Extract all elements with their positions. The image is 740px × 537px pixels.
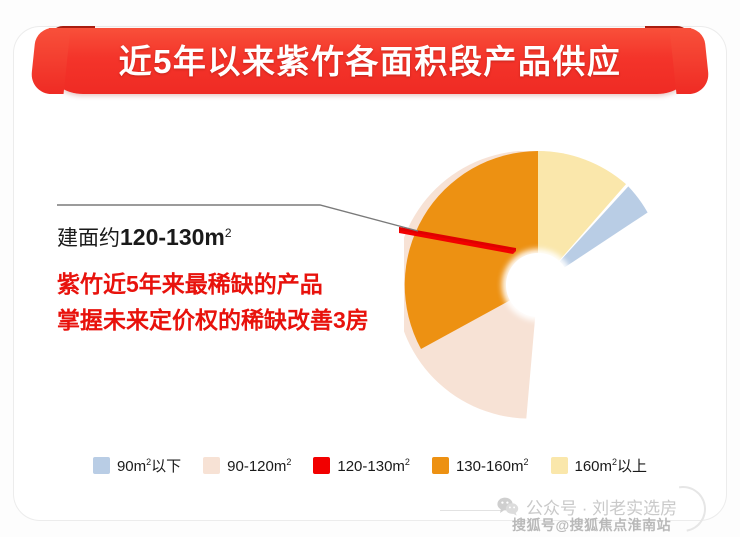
legend-label-130-160: 130-160m2 bbox=[456, 457, 529, 475]
annotation-red-line-1: 紫竹近5年来最稀缺的产品 bbox=[57, 267, 437, 303]
legend-label-90-120: 90-120m2 bbox=[227, 457, 291, 475]
annotation-unit-sup: 2 bbox=[225, 226, 232, 240]
legend-sup-2: 2 bbox=[405, 457, 410, 467]
legend-item-90-120[interactable]: 90-120m2 bbox=[203, 457, 291, 475]
annotation-prefix: 建面约 bbox=[57, 227, 120, 250]
chart-legend: 90m2以下 90-120m2 120-130m2 130-160m2 160m… bbox=[0, 455, 740, 476]
annotation-area-label: 建面约120-130m2 bbox=[57, 222, 437, 253]
legend-text-4: 160m bbox=[575, 458, 613, 475]
annotation-value: 120-130 bbox=[120, 224, 204, 250]
annotation-unit: m bbox=[204, 224, 224, 250]
legend-suffix-4: 以上 bbox=[617, 458, 647, 475]
legend-text-3: 130-160m bbox=[456, 458, 524, 475]
legend-text-2: 120-130m bbox=[337, 458, 405, 475]
legend-text-1: 90-120m bbox=[227, 458, 286, 475]
watermark-divider bbox=[440, 510, 502, 511]
legend-sup-1: 2 bbox=[286, 457, 291, 467]
legend-item-130-160[interactable]: 130-160m2 bbox=[432, 457, 529, 475]
annotation-highlight: 紫竹近5年来最稀缺的产品 掌握未来定价权的稀缺改善3房 bbox=[57, 267, 437, 338]
legend-item-90-down[interactable]: 90m2以下 bbox=[93, 455, 181, 476]
slide-canvas: 近5年以来紫竹各面积段产品供应 建面约120-130m2 紫竹近5年来最稀缺的产… bbox=[0, 0, 740, 537]
legend-label-90-down: 90m2以下 bbox=[117, 455, 181, 476]
legend-item-120-130[interactable]: 120-130m2 bbox=[313, 457, 410, 475]
legend-text-0: 90m bbox=[117, 458, 146, 475]
watermark-sohu: 搜狐号@搜狐焦点淮南站 bbox=[512, 515, 671, 535]
legend-suffix-0: 以下 bbox=[151, 458, 181, 475]
annotation-block: 建面约120-130m2 紫竹近5年来最稀缺的产品 掌握未来定价权的稀缺改善3房 bbox=[57, 222, 437, 339]
legend-swatch-90-120 bbox=[203, 457, 220, 474]
legend-swatch-90-down bbox=[93, 457, 110, 474]
legend-swatch-160-up bbox=[551, 457, 568, 474]
legend-item-160-up[interactable]: 160m2以上 bbox=[551, 455, 648, 476]
legend-swatch-120-130 bbox=[313, 457, 330, 474]
banner-title: 近5年以来紫竹各面积段产品供应 bbox=[119, 45, 622, 78]
annotation-red-line-2: 掌握未来定价权的稀缺改善3房 bbox=[57, 303, 437, 339]
legend-label-160-up: 160m2以上 bbox=[575, 455, 648, 476]
ribbon-body: 近5年以来紫竹各面积段产品供应 bbox=[49, 28, 691, 94]
legend-swatch-130-160 bbox=[432, 457, 449, 474]
legend-label-120-130: 120-130m2 bbox=[337, 457, 410, 475]
wechat-icon bbox=[497, 497, 519, 516]
donut-center-hole bbox=[506, 253, 570, 317]
title-banner: 近5年以来紫竹各面积段产品供应 bbox=[0, 8, 740, 94]
legend-sup-3: 2 bbox=[523, 457, 528, 467]
